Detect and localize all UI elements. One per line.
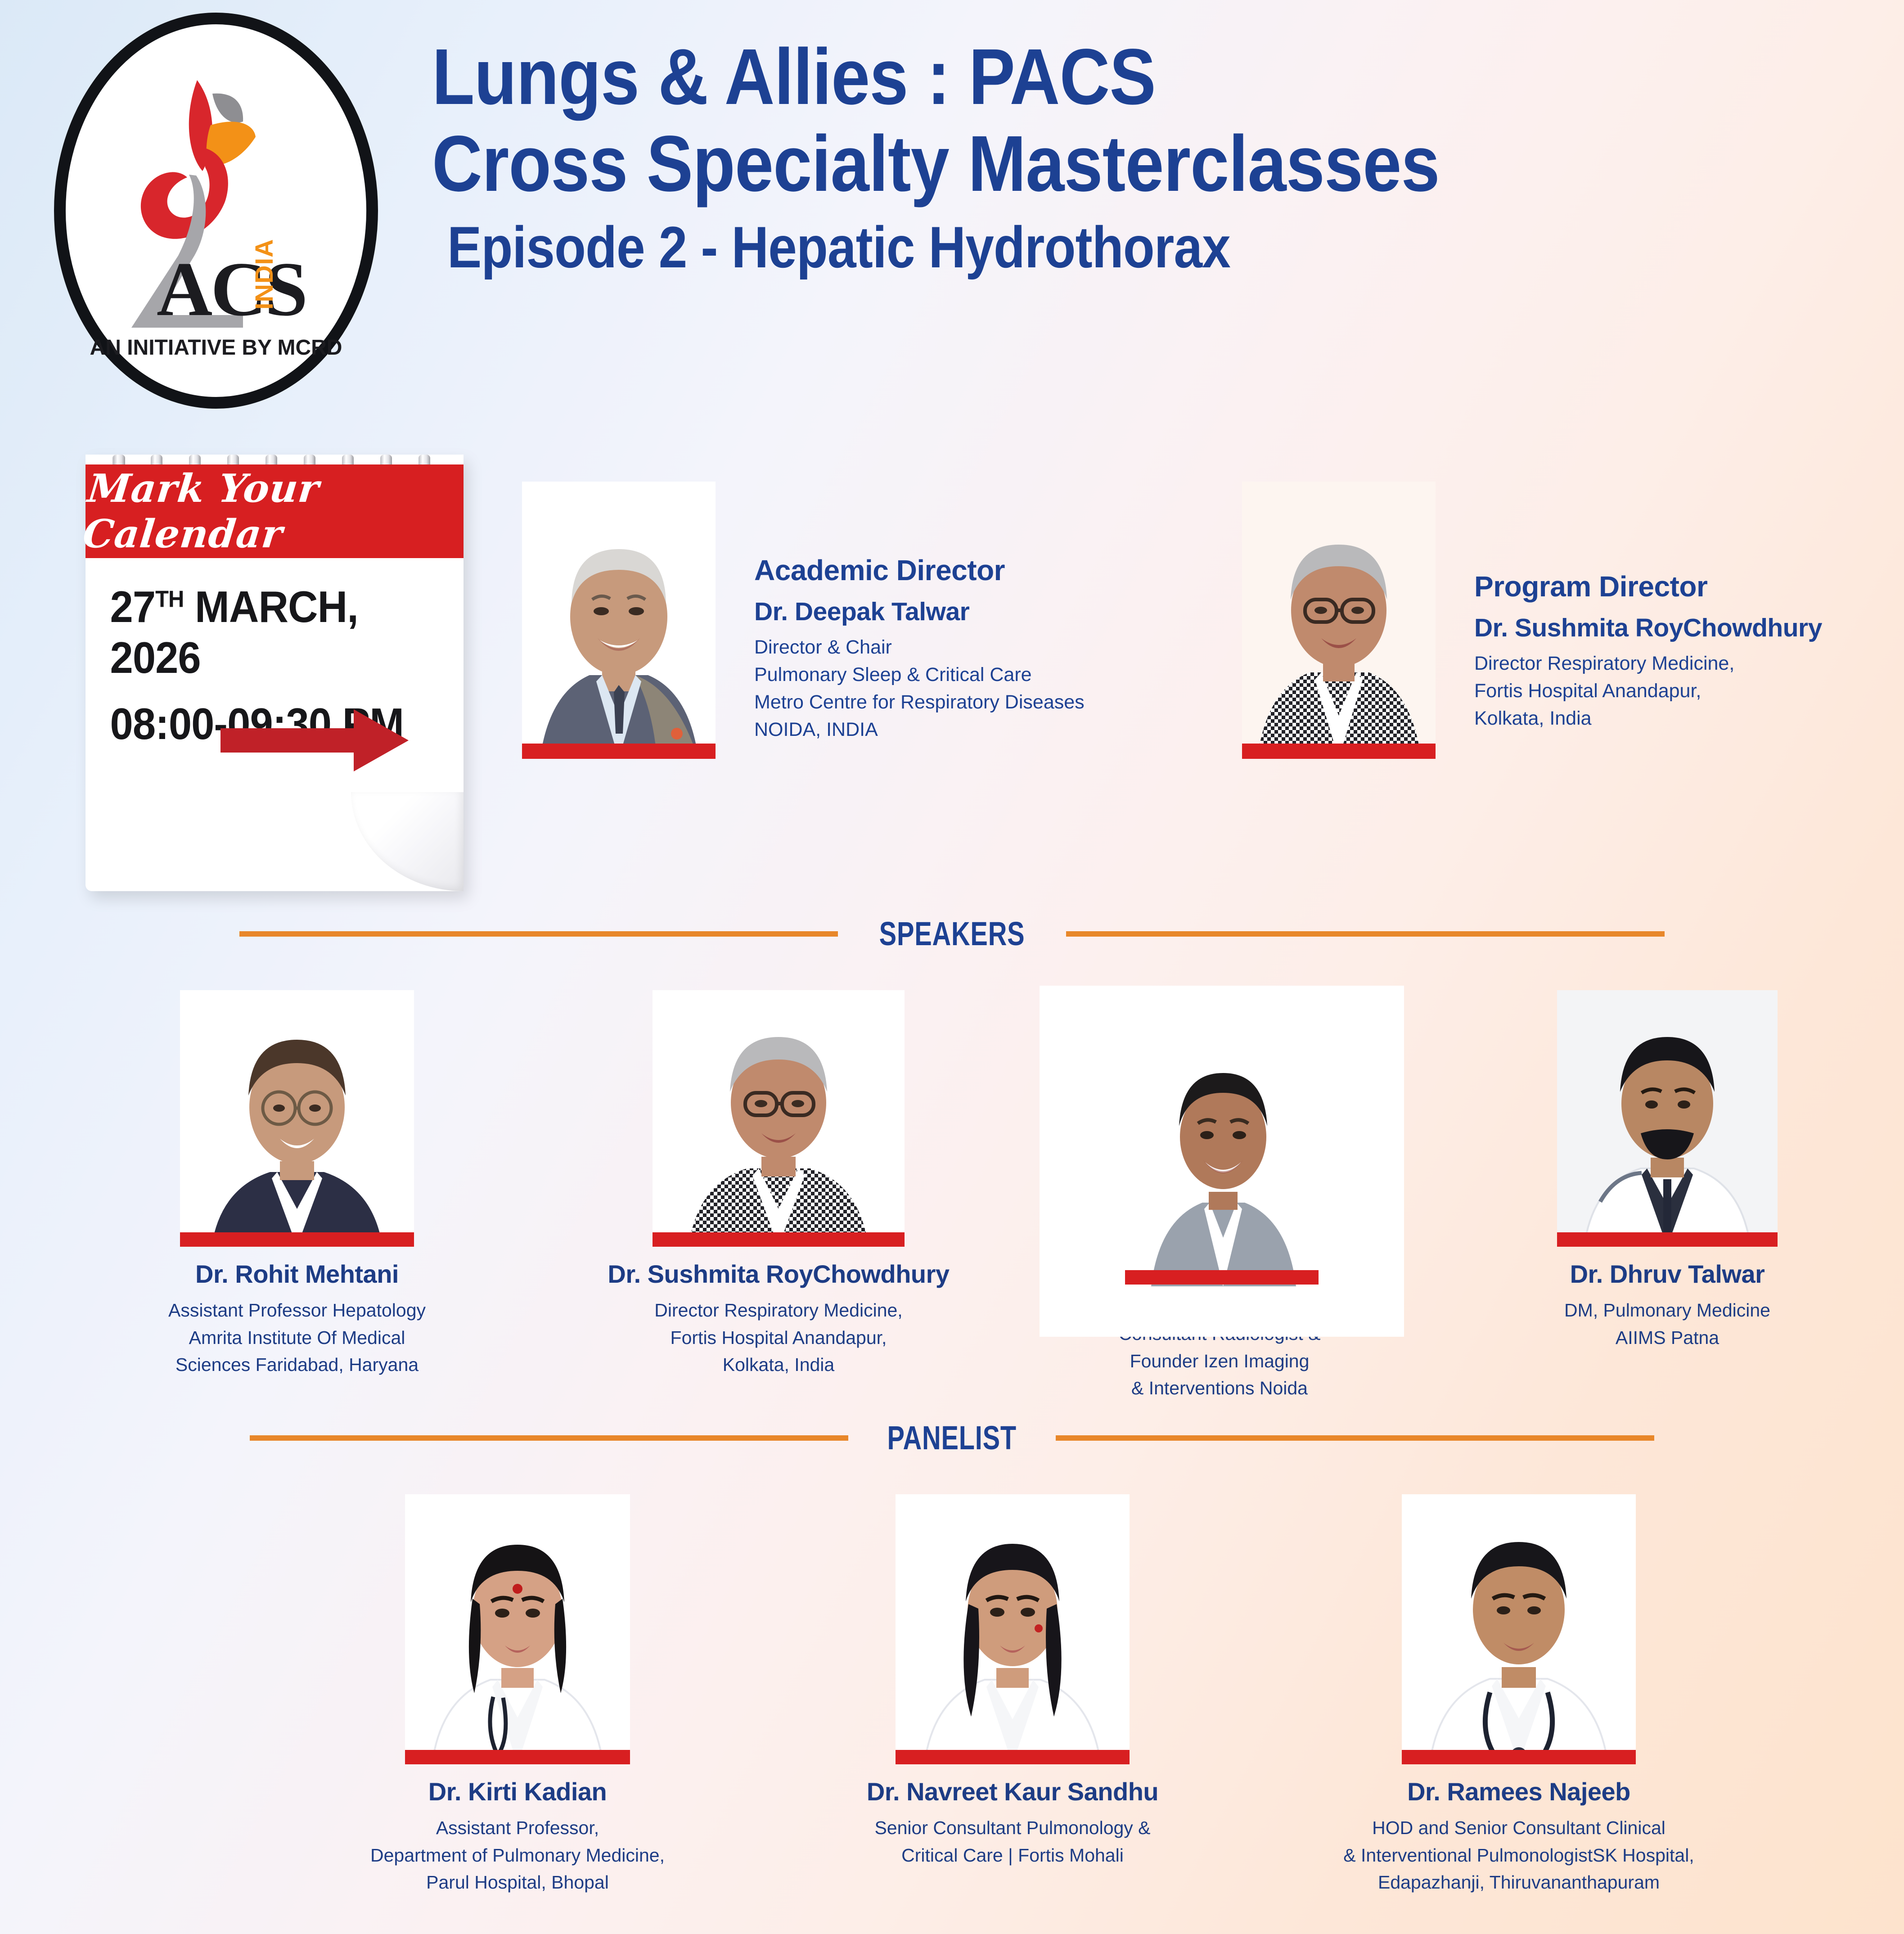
panelist-photo	[1402, 1494, 1636, 1764]
speaker-photo	[1557, 990, 1778, 1247]
speaker-affiliation-line: Kolkata, India	[590, 1351, 968, 1379]
speaker-affiliation-line: Fortis Hospital Anandapur,	[590, 1324, 968, 1352]
program-director-role: Program Director	[1474, 570, 1822, 603]
poster-title: Lungs & Allies : PACS Cross Specialty Ma…	[432, 36, 1863, 278]
panelist-affiliation-line: Department of Pulmonary Medicine,	[297, 1842, 738, 1869]
event-day-suffix: TH	[155, 586, 184, 612]
panelist-section-label: PANELIST	[887, 1419, 1017, 1457]
speaker-card: Dr. Sushmita RoyChowdhury Director Respi…	[590, 990, 968, 1379]
panelist-section-divider: PANELIST	[0, 1419, 1904, 1457]
logo-artwork: ACS INDIA AN INITIATIVE BY MCRD	[54, 13, 378, 409]
mark-your-calendar-card: Mark Your Calendar 27TH MARCH, 2026 08:0…	[86, 455, 464, 891]
panelist-photo	[405, 1494, 630, 1764]
panelist-name: Dr. Navreet Kaur Sandhu	[810, 1777, 1215, 1806]
program-director-photo	[1242, 482, 1436, 759]
photo-accent-bar	[1557, 1232, 1778, 1247]
panelist-affiliation-line: Edapazhanji, Thiruvananthapuram	[1296, 1869, 1742, 1896]
panelist-affiliation-line: Assistant Professor,	[297, 1814, 738, 1842]
portrait-rohit-mehtani	[180, 990, 414, 1247]
academic-director-line: NOIDA, INDIA	[754, 716, 1085, 744]
pacs-india-logo: ACS INDIA AN INITIATIVE BY MCRD	[54, 13, 378, 409]
calendar-page-curl	[351, 792, 464, 891]
academic-director-role: Academic Director	[754, 554, 1085, 587]
portrait-ramees-najeeb	[1402, 1494, 1636, 1764]
portrait-kirti-kadian	[405, 1494, 630, 1764]
speaker-name: Dr. Rohit Mehtani	[135, 1259, 459, 1289]
title-line-1: Lungs & Allies : PACS	[432, 36, 1691, 118]
academic-director-photo	[522, 482, 716, 759]
svg-text:ACS: ACS	[157, 247, 306, 332]
speaker-photo	[653, 990, 905, 1247]
academic-director-line: Metro Centre for Respiratory Diseases	[754, 689, 1085, 716]
panelist-affiliation-line: Critical Care | Fortis Mohali	[810, 1842, 1215, 1869]
photo-accent-bar	[405, 1750, 630, 1764]
program-director-line: Director Respiratory Medicine,	[1474, 650, 1822, 677]
speakers-section-divider: SPEAKERS	[0, 915, 1904, 953]
divider-rule-right	[1066, 931, 1665, 937]
program-director-line: Kolkata, India	[1474, 705, 1822, 732]
speaker-name: Dr. Dhruv Talwar	[1490, 1259, 1845, 1289]
panelist-affiliation-line: HOD and Senior Consultant Clinical	[1296, 1814, 1742, 1842]
speaker-affiliation-line: Founder Izen Imaging	[1040, 1348, 1400, 1375]
academic-director-line: Pulmonary Sleep & Critical Care	[754, 661, 1085, 689]
svg-text:AN INITIATIVE BY MCRD: AN INITIATIVE BY MCRD	[90, 336, 342, 360]
portrait-deepak-talwar	[522, 482, 716, 759]
academic-director-text: Academic Director Dr. Deepak Talwar Dire…	[754, 482, 1085, 744]
program-director-card: Program Director Dr. Sushmita RoyChowdhu…	[1242, 482, 1822, 759]
panelist-card: Dr. Kirti Kadian Assistant Professor, De…	[297, 1494, 738, 1896]
event-day: 27	[110, 582, 156, 631]
panelist-card: Dr. Ramees Najeeb HOD and Senior Consult…	[1296, 1494, 1742, 1896]
speaker-affiliation-line: DM, Pulmonary Medicine	[1490, 1297, 1845, 1324]
academic-director-card: Academic Director Dr. Deepak Talwar Dire…	[522, 482, 1085, 759]
speaker-card: Dr. Khushboo Pilania Consultant Radiolog…	[1040, 986, 1400, 1402]
photo-accent-bar	[1242, 744, 1436, 759]
speaker-photo	[1040, 986, 1404, 1337]
speaker-affiliation-line: Amrita Institute Of Medical	[135, 1324, 459, 1352]
speaker-affiliation-line: & Interventions Noida	[1040, 1375, 1400, 1402]
divider-rule-left	[239, 931, 838, 937]
photo-accent-bar	[522, 744, 716, 759]
divider-rule-right	[1056, 1435, 1654, 1441]
portrait-sushmita-roychowdhury	[1242, 482, 1436, 759]
photo-accent-bar	[653, 1232, 905, 1247]
calendar-header-text: Mark Your Calendar	[81, 466, 468, 557]
speaker-affiliation-line: Director Respiratory Medicine,	[590, 1297, 968, 1324]
speaker-card: Dr. Rohit Mehtani Assistant Professor He…	[135, 990, 459, 1379]
event-poster: ACS INDIA AN INITIATIVE BY MCRD Lungs & …	[0, 0, 1904, 1934]
photo-accent-bar	[180, 1232, 414, 1247]
program-director-name: Dr. Sushmita RoyChowdhury	[1474, 613, 1822, 643]
speaker-card: Dr. Dhruv Talwar DM, Pulmonary Medicine …	[1490, 990, 1845, 1351]
svg-text:INDIA: INDIA	[250, 239, 278, 310]
panelist-affiliation-line: Parul Hospital, Bhopal	[297, 1869, 738, 1896]
panelist-name: Dr. Kirti Kadian	[297, 1777, 738, 1806]
calendar-header: Mark Your Calendar	[86, 464, 464, 558]
portrait-navreet-kaur-sandhu	[896, 1494, 1130, 1764]
panelist-card: Dr. Navreet Kaur Sandhu Senior Consultan…	[810, 1494, 1215, 1869]
photo-accent-bar	[1402, 1750, 1636, 1764]
arrow-right-icon	[221, 707, 410, 774]
speaker-affiliation-line: Assistant Professor Hepatology	[135, 1297, 459, 1324]
speaker-photo	[180, 990, 414, 1247]
panelist-photo	[896, 1494, 1130, 1764]
panelist-affiliation-line: Senior Consultant Pulmonology &	[810, 1814, 1215, 1842]
photo-accent-bar	[896, 1750, 1130, 1764]
panelist-name: Dr. Ramees Najeeb	[1296, 1777, 1742, 1806]
program-director-line: Fortis Hospital Anandapur,	[1474, 677, 1822, 705]
event-date: 27TH MARCH, 2026	[86, 582, 441, 683]
portrait-sushmita-roychowdhury-speaker	[653, 990, 905, 1247]
title-episode: Episode 2 - Hepatic Hydrothorax	[447, 217, 1693, 278]
divider-rule-left	[250, 1435, 848, 1441]
photo-accent-bar	[1125, 1270, 1319, 1285]
academic-director-line: Director & Chair	[754, 634, 1085, 661]
speaker-name: Dr. Sushmita RoyChowdhury	[590, 1259, 968, 1289]
portrait-dhruv-talwar	[1557, 990, 1778, 1247]
panelist-affiliation-line: & Interventional PulmonologistSK Hospita…	[1296, 1842, 1742, 1869]
program-director-text: Program Director Dr. Sushmita RoyChowdhu…	[1474, 482, 1822, 732]
title-line-2: Cross Specialty Masterclasses	[432, 123, 1691, 205]
speakers-section-label: SPEAKERS	[879, 915, 1025, 953]
speaker-affiliation-line: Sciences Faridabad, Haryana	[135, 1351, 459, 1379]
speaker-affiliation-line: AIIMS Patna	[1490, 1324, 1845, 1352]
academic-director-name: Dr. Deepak Talwar	[754, 597, 1085, 627]
